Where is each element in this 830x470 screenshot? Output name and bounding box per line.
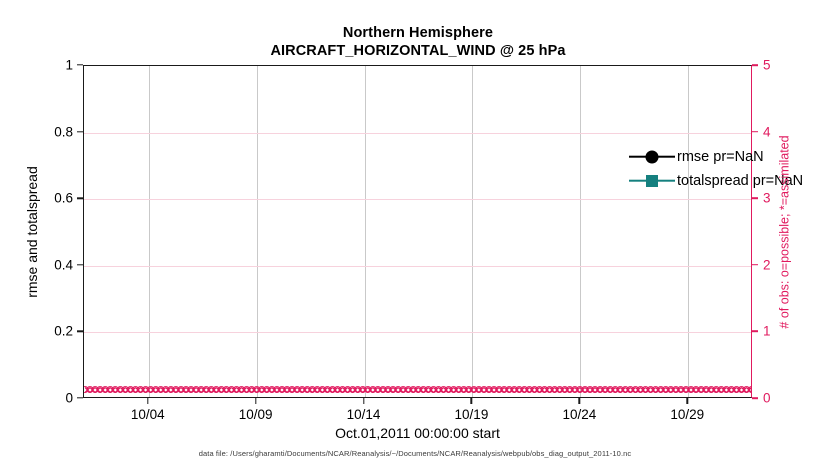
x-axis-label: Oct.01,2011 00:00:00 start	[83, 425, 752, 441]
obs-assimilated-marker: ×	[220, 384, 227, 396]
obs-assimilated-marker: ×	[286, 384, 293, 396]
obs-assimilated-marker: ×	[730, 384, 737, 396]
obs-possible-marker: o	[293, 382, 300, 395]
obs-possible-marker: o	[718, 382, 725, 395]
obs-possible-marker: o	[531, 382, 538, 395]
obs-possible-marker: o	[339, 382, 346, 395]
vertical-gridline	[257, 66, 258, 397]
obs-assimilated-marker: ×	[569, 384, 576, 396]
obs-possible-marker: o	[91, 382, 98, 395]
obs-assimilated-marker: ×	[690, 384, 697, 396]
right-axis-label: # of obs: o=possible; *=assimilated	[775, 65, 795, 398]
vertical-gridline	[149, 66, 150, 397]
obs-possible-marker: o	[465, 382, 472, 395]
obs-assimilated-marker: ×	[741, 384, 748, 396]
x-axis-tick-label: 10/09	[239, 407, 273, 422]
obs-possible-marker: o	[420, 382, 427, 395]
obs-possible-marker: o	[682, 382, 689, 395]
obs-possible-marker: o	[556, 382, 563, 395]
obs-assimilated-marker: ×	[397, 384, 404, 396]
obs-assimilated-marker: ×	[331, 384, 338, 396]
obs-assimilated-marker: ×	[352, 384, 359, 396]
obs-possible-marker: o	[566, 382, 573, 395]
x-axis-tick-label: 10/04	[131, 407, 165, 422]
obs-assimilated-marker: ×	[574, 384, 581, 396]
obs-assimilated-marker: ×	[241, 384, 248, 396]
obs-possible-marker: o	[617, 382, 624, 395]
obs-possible-marker: o	[248, 382, 255, 395]
obs-assimilated-marker: ×	[655, 384, 662, 396]
obs-assimilated-marker: ×	[347, 384, 354, 396]
gridlines	[84, 66, 751, 397]
obs-possible-marker: o	[157, 382, 164, 395]
obs-assimilated-marker: ×	[640, 384, 647, 396]
obs-possible-marker: o	[304, 382, 311, 395]
obs-assimilated-marker: ×	[261, 384, 268, 396]
chart-title-block: Northern Hemisphere AIRCRAFT_HORIZONTAL_…	[83, 24, 753, 60]
obs-assimilated-marker: ×	[498, 384, 505, 396]
obs-assimilated-marker: ×	[175, 384, 182, 396]
obs-assimilated-marker: ×	[296, 384, 303, 396]
observation-marker-band: o×o×o×o×o×o×o×o×o×o×o×o×o×o×o×o×o×o×o×o×…	[84, 380, 751, 398]
obs-assimilated-marker: ×	[342, 384, 349, 396]
legend-square-marker-icon	[646, 175, 658, 187]
obs-assimilated-marker: ×	[468, 384, 475, 396]
obs-assimilated-marker: ×	[438, 384, 445, 396]
obs-assimilated-marker: ×	[528, 384, 535, 396]
obs-possible-marker: o	[142, 382, 149, 395]
obs-assimilated-marker: ×	[316, 384, 323, 396]
left-axis-ticks: 00.20.40.60.81	[0, 65, 83, 398]
obs-possible-marker: o	[480, 382, 487, 395]
obs-assimilated-marker: ×	[427, 384, 434, 396]
obs-possible-marker: o	[607, 382, 614, 395]
obs-possible-marker: o	[263, 382, 270, 395]
obs-possible-marker: o	[152, 382, 159, 395]
obs-possible-marker: o	[410, 382, 417, 395]
obs-assimilated-marker: ×	[321, 384, 328, 396]
obs-assimilated-marker: ×	[215, 384, 222, 396]
right-axis-tick-label: 1	[763, 324, 771, 339]
right-axis-tick-label: 2	[763, 257, 771, 272]
obs-possible-marker: o	[652, 382, 659, 395]
obs-assimilated-marker: ×	[604, 384, 611, 396]
obs-assimilated-marker: ×	[549, 384, 556, 396]
legend-circle-marker-icon	[646, 150, 659, 163]
obs-assimilated-marker: ×	[609, 384, 616, 396]
horizontal-gridline	[84, 199, 751, 200]
obs-possible-marker: o	[536, 382, 543, 395]
obs-possible-marker: o	[511, 382, 518, 395]
vertical-gridline	[472, 66, 473, 397]
obs-possible-marker: o	[703, 382, 710, 395]
obs-assimilated-marker: ×	[665, 384, 672, 396]
obs-possible-marker: o	[738, 382, 745, 395]
obs-assimilated-marker: ×	[483, 384, 490, 396]
obs-assimilated-marker: ×	[276, 384, 283, 396]
obs-possible-marker: o	[84, 382, 89, 395]
obs-possible-marker: o	[329, 382, 336, 395]
obs-assimilated-marker: ×	[377, 384, 384, 396]
obs-possible-marker: o	[122, 382, 129, 395]
obs-possible-marker: o	[743, 382, 750, 395]
obs-assimilated-marker: ×	[402, 384, 409, 396]
obs-possible-marker: o	[203, 382, 210, 395]
obs-possible-marker: o	[132, 382, 139, 395]
obs-assimilated-marker: ×	[539, 384, 546, 396]
obs-possible-marker: o	[344, 382, 351, 395]
obs-possible-marker: o	[475, 382, 482, 395]
right-axis-tick	[752, 131, 758, 133]
obs-assimilated-marker: ×	[650, 384, 657, 396]
obs-possible-marker: o	[374, 382, 381, 395]
obs-assimilated-marker: ×	[710, 384, 717, 396]
obs-possible-marker: o	[561, 382, 568, 395]
obs-assimilated-marker: ×	[685, 384, 692, 396]
obs-possible-marker: o	[213, 382, 220, 395]
obs-assimilated-marker: ×	[372, 384, 379, 396]
obs-possible-marker: o	[637, 382, 644, 395]
obs-assimilated-marker: ×	[337, 384, 344, 396]
obs-assimilated-marker: ×	[619, 384, 626, 396]
obs-assimilated-marker: ×	[453, 384, 460, 396]
obs-assimilated-marker: ×	[422, 384, 429, 396]
obs-possible-marker: o	[612, 382, 619, 395]
x-axis-tick	[363, 398, 364, 404]
obs-possible-marker: o	[273, 382, 280, 395]
obs-possible-marker: o	[586, 382, 593, 395]
page-title: Northern Hemisphere	[83, 24, 753, 42]
obs-possible-marker: o	[379, 382, 386, 395]
obs-possible-marker: o	[516, 382, 523, 395]
right-axis-tick	[752, 397, 758, 399]
x-axis-tick	[687, 398, 688, 404]
obs-assimilated-marker: ×	[554, 384, 561, 396]
obs-possible-marker: o	[208, 382, 215, 395]
obs-assimilated-marker: ×	[670, 384, 677, 396]
obs-assimilated-marker: ×	[589, 384, 596, 396]
obs-possible-marker: o	[187, 382, 194, 395]
vertical-gridline	[580, 66, 581, 397]
obs-assimilated-marker: ×	[700, 384, 707, 396]
chart-subtitle: AIRCRAFT_HORIZONTAL_WIND @ 25 hPa	[83, 42, 753, 60]
obs-possible-marker: o	[687, 382, 694, 395]
right-axis-tick-label: 4	[763, 124, 771, 139]
x-axis-tick-label: 10/24	[562, 407, 596, 422]
obs-assimilated-marker: ×	[594, 384, 601, 396]
x-axis-tick	[579, 398, 580, 404]
obs-possible-marker: o	[364, 382, 371, 395]
obs-assimilated-marker: ×	[564, 384, 571, 396]
obs-possible-marker: o	[309, 382, 316, 395]
obs-assimilated-marker: ×	[362, 384, 369, 396]
obs-possible-marker: o	[450, 382, 457, 395]
obs-possible-marker: o	[571, 382, 578, 395]
obs-assimilated-marker: ×	[124, 384, 131, 396]
obs-possible-marker: o	[647, 382, 654, 395]
obs-possible-marker: o	[415, 382, 422, 395]
obs-possible-marker: o	[349, 382, 356, 395]
obs-assimilated-marker: ×	[367, 384, 374, 396]
obs-assimilated-marker: ×	[493, 384, 500, 396]
obs-possible-marker: o	[389, 382, 396, 395]
obs-assimilated-marker: ×	[746, 384, 751, 396]
x-axis-tick	[255, 398, 256, 404]
obs-assimilated-marker: ×	[99, 384, 106, 396]
obs-assimilated-marker: ×	[210, 384, 217, 396]
obs-possible-marker: o	[642, 382, 649, 395]
obs-assimilated-marker: ×	[473, 384, 480, 396]
obs-possible-marker: o	[627, 382, 634, 395]
legend-swatch	[629, 172, 675, 190]
obs-assimilated-marker: ×	[645, 384, 652, 396]
x-axis-tick	[471, 398, 472, 404]
obs-assimilated-marker: ×	[458, 384, 465, 396]
obs-possible-marker: o	[728, 382, 735, 395]
obs-possible-marker: o	[218, 382, 225, 395]
obs-possible-marker: o	[405, 382, 412, 395]
obs-possible-marker: o	[622, 382, 629, 395]
obs-possible-marker: o	[359, 382, 366, 395]
obs-possible-marker: o	[667, 382, 674, 395]
obs-possible-marker: o	[748, 382, 751, 395]
obs-assimilated-marker: ×	[200, 384, 207, 396]
obs-possible-marker: o	[602, 382, 609, 395]
obs-possible-marker: o	[440, 382, 447, 395]
left-axis-tick-label: 1	[65, 58, 73, 73]
obs-possible-marker: o	[324, 382, 331, 395]
obs-assimilated-marker: ×	[256, 384, 263, 396]
left-axis-tick-label: 0.2	[54, 324, 73, 339]
obs-possible-marker: o	[112, 382, 119, 395]
x-axis-tick-label: 10/19	[455, 407, 489, 422]
obs-possible-marker: o	[137, 382, 144, 395]
obs-possible-marker: o	[455, 382, 462, 395]
obs-assimilated-marker: ×	[392, 384, 399, 396]
obs-assimilated-marker: ×	[170, 384, 177, 396]
obs-assimilated-marker: ×	[544, 384, 551, 396]
obs-possible-marker: o	[485, 382, 492, 395]
left-axis-tick-label: 0.8	[54, 124, 73, 139]
right-axis-tick	[752, 264, 758, 266]
obs-assimilated-marker: ×	[291, 384, 298, 396]
x-axis-tick	[147, 398, 148, 404]
obs-possible-marker: o	[319, 382, 326, 395]
obs-assimilated-marker: ×	[629, 384, 636, 396]
x-axis-ticks: 10/0410/0910/1410/1910/2410/29	[83, 398, 752, 428]
obs-assimilated-marker: ×	[140, 384, 147, 396]
obs-possible-marker: o	[243, 382, 250, 395]
obs-assimilated-marker: ×	[624, 384, 631, 396]
obs-possible-marker: o	[425, 382, 432, 395]
obs-assimilated-marker: ×	[190, 384, 197, 396]
obs-possible-marker: o	[713, 382, 720, 395]
obs-assimilated-marker: ×	[715, 384, 722, 396]
obs-possible-marker: o	[506, 382, 513, 395]
obs-possible-marker: o	[435, 382, 442, 395]
obs-assimilated-marker: ×	[357, 384, 364, 396]
obs-assimilated-marker: ×	[306, 384, 313, 396]
obs-possible-marker: o	[299, 382, 306, 395]
obs-assimilated-marker: ×	[614, 384, 621, 396]
obs-assimilated-marker: ×	[251, 384, 258, 396]
obs-assimilated-marker: ×	[508, 384, 515, 396]
obs-possible-marker: o	[162, 382, 169, 395]
obs-possible-marker: o	[268, 382, 275, 395]
obs-assimilated-marker: ×	[129, 384, 136, 396]
right-axis-tick	[752, 64, 758, 66]
obs-possible-marker: o	[86, 382, 93, 395]
obs-possible-marker: o	[253, 382, 260, 395]
obs-assimilated-marker: ×	[230, 384, 237, 396]
obs-possible-marker: o	[233, 382, 240, 395]
left-axis-tick-label: 0.4	[54, 257, 73, 272]
obs-possible-marker: o	[369, 382, 376, 395]
obs-possible-marker: o	[596, 382, 603, 395]
obs-assimilated-marker: ×	[443, 384, 450, 396]
obs-possible-marker: o	[708, 382, 715, 395]
obs-possible-marker: o	[733, 382, 740, 395]
obs-possible-marker: o	[278, 382, 285, 395]
obs-assimilated-marker: ×	[417, 384, 424, 396]
obs-assimilated-marker: ×	[160, 384, 167, 396]
obs-assimilated-marker: ×	[725, 384, 732, 396]
obs-assimilated-marker: ×	[165, 384, 172, 396]
obs-assimilated-marker: ×	[432, 384, 439, 396]
obs-assimilated-marker: ×	[660, 384, 667, 396]
horizontal-gridline	[84, 332, 751, 333]
obs-assimilated-marker: ×	[448, 384, 455, 396]
obs-assimilated-marker: ×	[155, 384, 162, 396]
obs-possible-marker: o	[400, 382, 407, 395]
obs-assimilated-marker: ×	[695, 384, 702, 396]
obs-assimilated-marker: ×	[326, 384, 333, 396]
obs-assimilated-marker: ×	[503, 384, 510, 396]
obs-possible-marker: o	[460, 382, 467, 395]
obs-assimilated-marker: ×	[185, 384, 192, 396]
obs-possible-marker: o	[576, 382, 583, 395]
obs-assimilated-marker: ×	[236, 384, 243, 396]
obs-assimilated-marker: ×	[109, 384, 116, 396]
obs-possible-marker: o	[490, 382, 497, 395]
obs-assimilated-marker: ×	[518, 384, 525, 396]
obs-assimilated-marker: ×	[94, 384, 101, 396]
obs-possible-marker: o	[495, 382, 502, 395]
obs-possible-marker: o	[541, 382, 548, 395]
obs-assimilated-marker: ×	[311, 384, 318, 396]
obs-possible-marker: o	[551, 382, 558, 395]
obs-possible-marker: o	[192, 382, 199, 395]
obs-assimilated-marker: ×	[89, 384, 96, 396]
obs-assimilated-marker: ×	[225, 384, 232, 396]
obs-possible-marker: o	[97, 382, 104, 395]
obs-assimilated-marker: ×	[513, 384, 520, 396]
obs-possible-marker: o	[238, 382, 245, 395]
obs-assimilated-marker: ×	[301, 384, 308, 396]
plot-area: rmse pr=NaNtotalspread pr=NaN o×o×o×o×o×…	[83, 65, 752, 398]
data-file-caption: data file: /Users/gharamti/Documents/NCA…	[0, 449, 830, 458]
obs-possible-marker: o	[692, 382, 699, 395]
obs-assimilated-marker: ×	[735, 384, 742, 396]
obs-possible-marker: o	[384, 382, 391, 395]
left-axis-tick-label: 0.6	[54, 191, 73, 206]
obs-possible-marker: o	[127, 382, 134, 395]
obs-possible-marker: o	[470, 382, 477, 395]
obs-assimilated-marker: ×	[584, 384, 591, 396]
vertical-gridline	[688, 66, 689, 397]
obs-assimilated-marker: ×	[488, 384, 495, 396]
obs-possible-marker: o	[117, 382, 124, 395]
obs-assimilated-marker: ×	[382, 384, 389, 396]
obs-assimilated-marker: ×	[114, 384, 121, 396]
obs-assimilated-marker: ×	[478, 384, 485, 396]
obs-possible-marker: o	[546, 382, 553, 395]
x-axis-tick-label: 10/29	[670, 407, 704, 422]
obs-assimilated-marker: ×	[271, 384, 278, 396]
obs-possible-marker: o	[662, 382, 669, 395]
obs-assimilated-marker: ×	[412, 384, 419, 396]
obs-possible-marker: o	[172, 382, 179, 395]
obs-assimilated-marker: ×	[266, 384, 273, 396]
obs-assimilated-marker: ×	[579, 384, 586, 396]
obs-assimilated-marker: ×	[84, 384, 91, 396]
obs-assimilated-marker: ×	[119, 384, 126, 396]
legend-swatch	[629, 148, 675, 166]
obs-assimilated-marker: ×	[599, 384, 606, 396]
right-axis-tick-label: 5	[763, 58, 771, 73]
obs-possible-marker: o	[223, 382, 230, 395]
obs-possible-marker: o	[723, 382, 730, 395]
vertical-gridline	[365, 66, 366, 397]
legend-item-label: rmse pr=NaN	[675, 149, 764, 165]
obs-possible-marker: o	[672, 382, 679, 395]
obs-possible-marker: o	[228, 382, 235, 395]
obs-possible-marker: o	[167, 382, 174, 395]
obs-possible-marker: o	[198, 382, 205, 395]
obs-possible-marker: o	[182, 382, 189, 395]
obs-possible-marker: o	[288, 382, 295, 395]
obs-possible-marker: o	[354, 382, 361, 395]
obs-assimilated-marker: ×	[523, 384, 530, 396]
obs-assimilated-marker: ×	[150, 384, 157, 396]
obs-assimilated-marker: ×	[145, 384, 152, 396]
obs-assimilated-marker: ×	[680, 384, 687, 396]
obs-possible-marker: o	[501, 382, 508, 395]
right-axis-tick	[752, 197, 758, 199]
obs-possible-marker: o	[521, 382, 528, 395]
horizontal-gridline	[84, 266, 751, 267]
obs-assimilated-marker: ×	[407, 384, 414, 396]
x-axis-tick-label: 10/14	[347, 407, 381, 422]
right-axis-label-text: # of obs: o=possible; *=assimilated	[778, 135, 792, 328]
obs-possible-marker: o	[147, 382, 154, 395]
obs-assimilated-marker: ×	[463, 384, 470, 396]
obs-assimilated-marker: ×	[281, 384, 288, 396]
obs-possible-marker: o	[177, 382, 184, 395]
obs-assimilated-marker: ×	[104, 384, 111, 396]
obs-possible-marker: o	[107, 382, 114, 395]
obs-possible-marker: o	[591, 382, 598, 395]
horizontal-gridline	[84, 133, 751, 134]
right-axis-tick-label: 0	[763, 391, 771, 406]
obs-assimilated-marker: ×	[205, 384, 212, 396]
obs-assimilated-marker: ×	[387, 384, 394, 396]
obs-possible-marker: o	[102, 382, 109, 395]
obs-possible-marker: o	[632, 382, 639, 395]
obs-assimilated-marker: ×	[720, 384, 727, 396]
obs-assimilated-marker: ×	[559, 384, 566, 396]
obs-possible-marker: o	[445, 382, 452, 395]
